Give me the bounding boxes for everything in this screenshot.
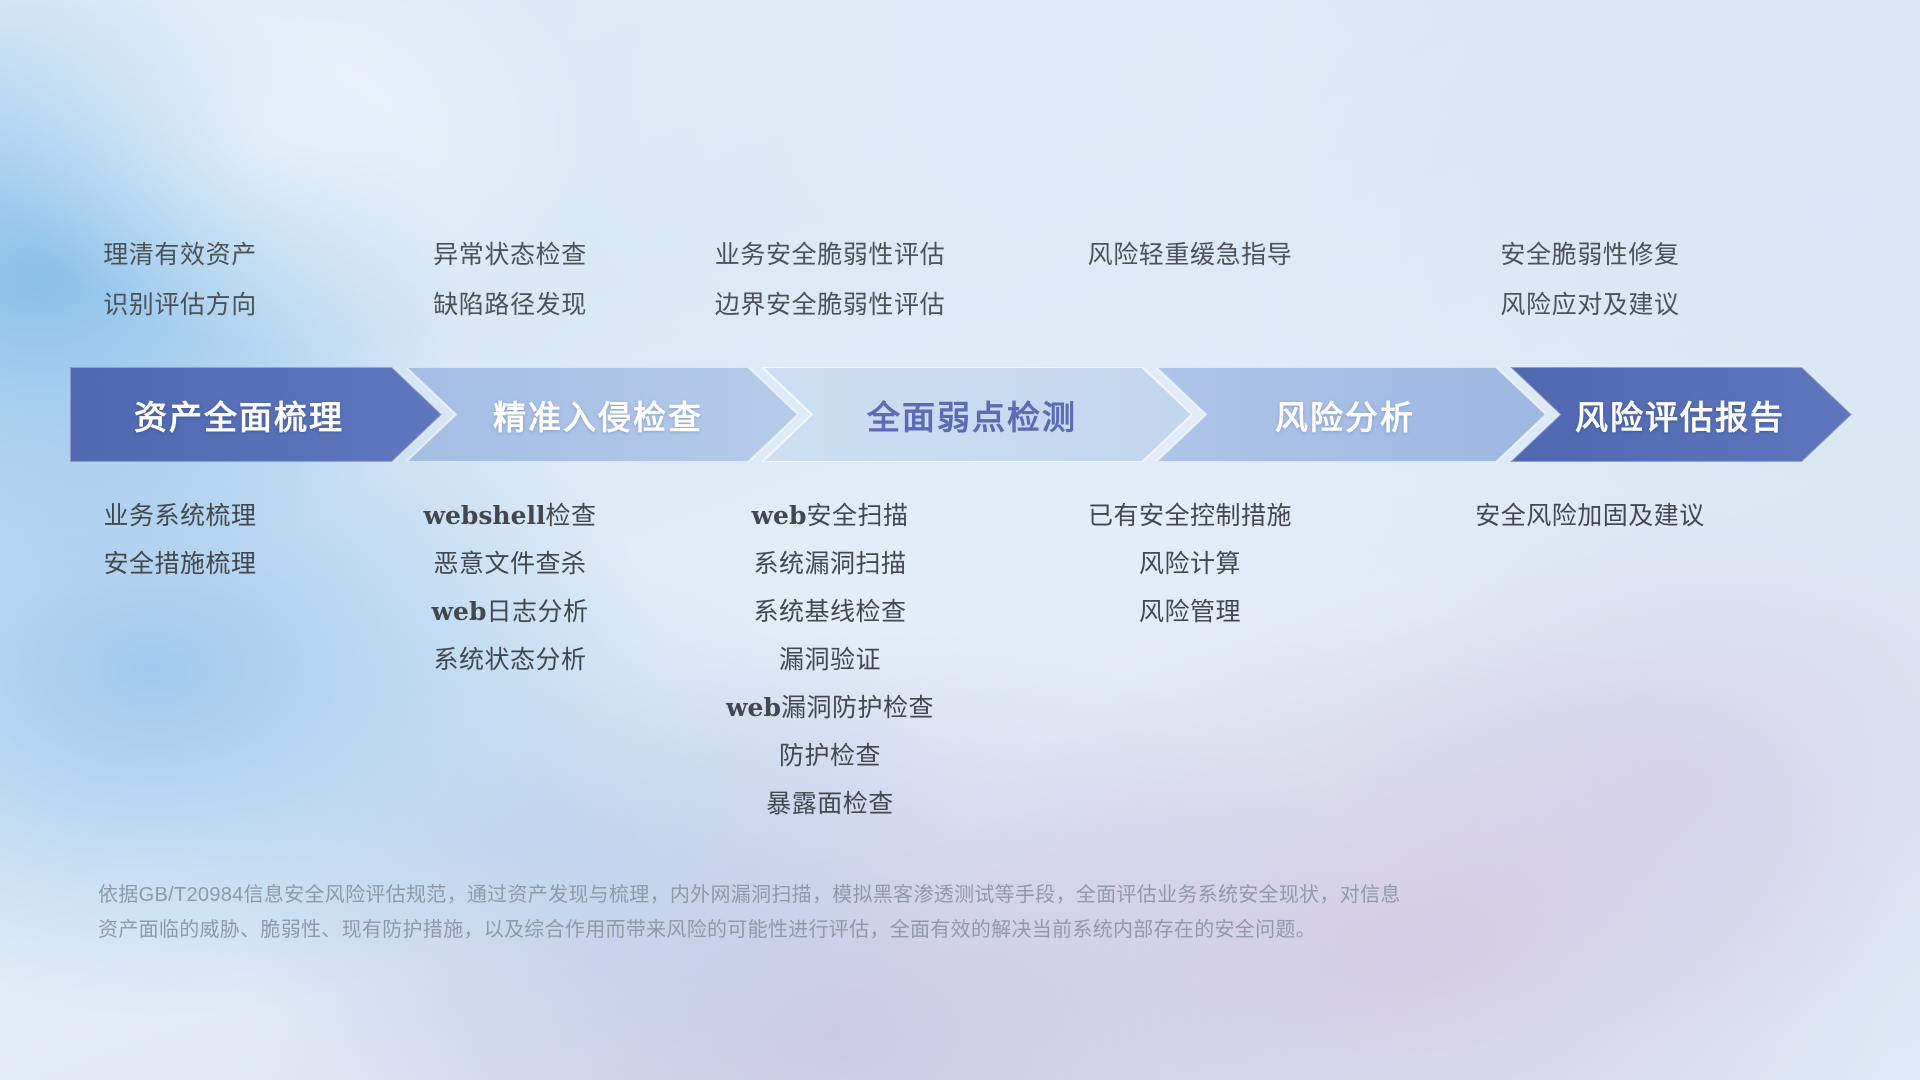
top-line: 异常状态检查 — [433, 232, 587, 278]
detail-line: 系统基线检查 — [753, 588, 906, 636]
footer-line-1: 依据GB/T20984信息安全风险评估规范，通过资产发现与梳理，内外网漏洞扫描，… — [98, 878, 1618, 913]
stage-label: 风险评估报告 — [1575, 391, 1785, 439]
top-line: 安全脆弱性修复 — [1500, 232, 1679, 278]
detail-line: webshell检查 — [423, 492, 596, 540]
detail-line: web安全扫描 — [752, 492, 909, 540]
footer-note: 依据GB/T20984信息安全风险评估规范，通过资产发现与梳理，内外网漏洞扫描，… — [98, 878, 1618, 948]
process-chevron-banner: 资产全面梳理 精准入侵检查 — [70, 367, 1852, 462]
top-descriptor-row-2: 识别评估方向 缺陷路径发现 边界安全脆弱性评估 风险应对及建议 — [0, 282, 1920, 328]
detail-line: 风险管理 — [1139, 588, 1241, 636]
top-col-4: 风险轻重缓急指导 — [1000, 232, 1380, 278]
top-col-3: 业务安全脆弱性评估 — [660, 232, 1000, 278]
detail-line: 恶意文件查杀 — [433, 540, 586, 588]
detail-line: 安全风险加固及建议 — [1475, 492, 1705, 540]
top-line: 理清有效资产 — [103, 232, 257, 278]
stage-label: 全面弱点检测 — [867, 391, 1077, 439]
top-col-4 — [1000, 282, 1380, 328]
top-line: 边界安全脆弱性评估 — [715, 282, 945, 328]
detail-line: 暴露面检查 — [766, 780, 894, 828]
top-line: 风险应对及建议 — [1500, 282, 1679, 328]
top-line: 识别评估方向 — [103, 282, 257, 328]
stage-label: 资产全面梳理 — [134, 391, 344, 439]
detail-line: 系统状态分析 — [433, 636, 586, 684]
detail-col-risk-analysis: 已有安全控制措施风险计算风险管理 — [1000, 492, 1380, 828]
detail-line: web日志分析 — [432, 588, 589, 636]
detail-columns: 业务系统梳理安全措施梳理 webshell检查恶意文件查杀web日志分析系统状态… — [0, 492, 1920, 828]
detail-col-intrusion-check: webshell检查恶意文件查杀web日志分析系统状态分析 — [360, 492, 660, 828]
top-line: 缺陷路径发现 — [433, 282, 587, 328]
detail-line: 漏洞验证 — [779, 636, 881, 684]
detail-line: 系统漏洞扫描 — [753, 540, 906, 588]
detail-line: 已有安全控制措施 — [1088, 492, 1292, 540]
stage-chevron-risk-analysis[interactable]: 风险分析 — [1156, 367, 1546, 462]
detail-line: 防护检查 — [779, 732, 881, 780]
top-col-3: 边界安全脆弱性评估 — [660, 282, 1000, 328]
top-col-5: 风险应对及建议 — [1380, 282, 1800, 328]
stage-label: 精准入侵检查 — [493, 391, 703, 439]
detail-line: 业务系统梳理 — [103, 492, 256, 540]
stage-chevron-assessment-report[interactable]: 风险评估报告 — [1510, 367, 1852, 462]
detail-col-assessment-report: 安全风险加固及建议 — [1380, 492, 1800, 828]
top-line: 业务安全脆弱性评估 — [715, 232, 945, 278]
top-col-1: 识别评估方向 — [0, 282, 360, 328]
slide-canvas: 理清有效资产 异常状态检查 业务安全脆弱性评估 风险轻重缓急指导 安全脆弱性修复… — [0, 0, 1920, 1080]
detail-col-asset-inventory: 业务系统梳理安全措施梳理 — [0, 492, 360, 828]
stage-chevron-weakness-detection[interactable]: 全面弱点检测 — [762, 367, 1192, 462]
top-col-1: 理清有效资产 — [0, 232, 360, 278]
top-descriptor-row-1: 理清有效资产 异常状态检查 业务安全脆弱性评估 风险轻重缓急指导 安全脆弱性修复 — [0, 232, 1920, 278]
detail-col-weakness-detection: web安全扫描系统漏洞扫描系统基线检查漏洞验证web漏洞防护检查防护检查暴露面检… — [660, 492, 1000, 828]
top-col-2: 缺陷路径发现 — [360, 282, 660, 328]
footer-line-2: 资产面临的威胁、脆弱性、现有防护措施，以及综合作用而带来风险的可能性进行评估，全… — [98, 913, 1618, 948]
detail-line: 安全措施梳理 — [103, 540, 256, 588]
top-col-2: 异常状态检查 — [360, 232, 660, 278]
top-line: 风险轻重缓急指导 — [1088, 232, 1293, 278]
top-col-5: 安全脆弱性修复 — [1380, 232, 1800, 278]
stage-chevron-asset-inventory[interactable]: 资产全面梳理 — [70, 367, 442, 462]
detail-line: web漏洞防护检查 — [726, 684, 934, 732]
detail-line: 风险计算 — [1139, 540, 1241, 588]
stage-label: 风险分析 — [1275, 391, 1415, 439]
stage-chevron-intrusion-check[interactable]: 精准入侵检查 — [406, 367, 798, 462]
